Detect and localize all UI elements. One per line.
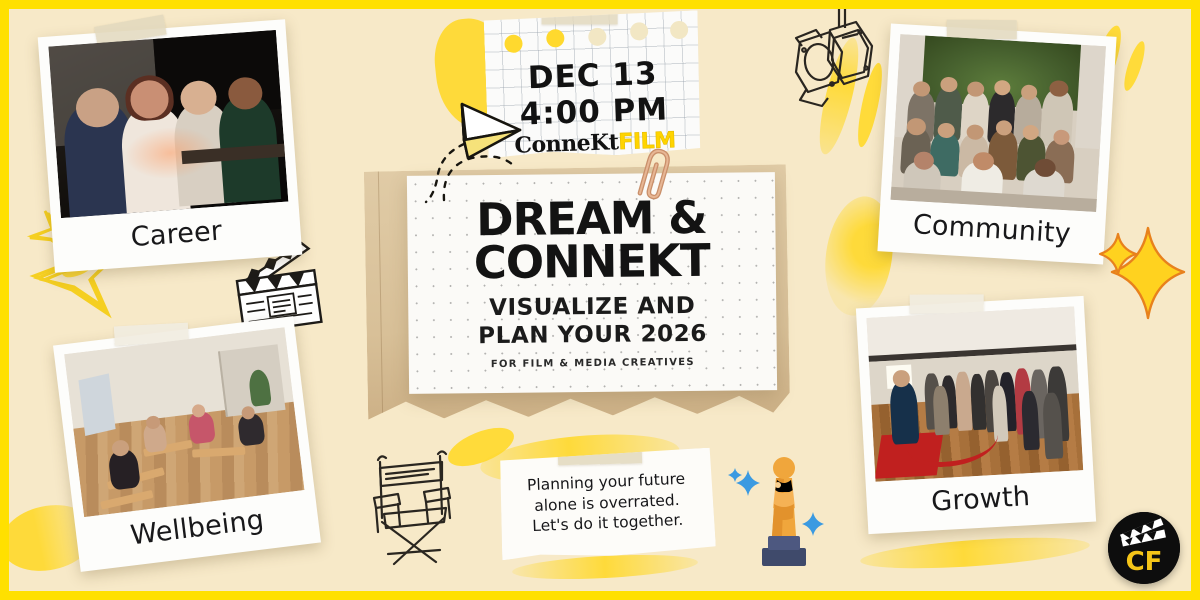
punch-hole (588, 28, 607, 47)
headline-line-2: CONNEKT (474, 239, 710, 285)
poster-canvas: Career Wellbeing (0, 0, 1200, 600)
brush-stroke (859, 532, 1090, 574)
brush-stroke (512, 551, 699, 583)
paper-plane-doodle (424, 96, 554, 206)
polaroid-growth: Growth (856, 296, 1096, 534)
polaroid-community: Community (877, 23, 1116, 264)
cf-monogram: CF (1126, 547, 1163, 577)
card-footnote: FOR FILM & MEDIA CREATIVES (491, 357, 695, 370)
punch-hole (546, 29, 565, 48)
studio-spotlight-doodle (782, 2, 890, 114)
tagline-note: Planning your future alone is overrated.… (498, 448, 716, 561)
punch-hole (504, 34, 523, 53)
punch-hole (670, 21, 689, 40)
washi-tape (910, 294, 984, 313)
brush-stroke (1120, 39, 1148, 92)
cf-logo-badge[interactable]: CF (1108, 512, 1180, 584)
sparkle-yellow-icon (1092, 222, 1188, 322)
photo-community (891, 34, 1106, 212)
polaroid-wellbeing: Wellbeing (53, 316, 321, 572)
subtitle-line-2: PLAN YOUR 2026 (478, 322, 707, 350)
clapperboard-cf-icon: CF (1108, 512, 1180, 584)
photo-growth (866, 306, 1083, 481)
washi-tape (542, 6, 618, 24)
sparkle-blue-icon (802, 512, 824, 536)
directors-chair-doodle (358, 442, 470, 570)
subtitle-line-1: VISUALIZE AND (489, 294, 696, 322)
punch-hole (630, 22, 649, 41)
photo-career (48, 30, 288, 218)
sparkle-blue-icon (728, 468, 742, 482)
oscar-statuette-icon (754, 452, 814, 570)
photo-wellbeing (64, 327, 304, 517)
polaroid-career: Career (38, 19, 303, 273)
washi-tape (947, 20, 1017, 39)
